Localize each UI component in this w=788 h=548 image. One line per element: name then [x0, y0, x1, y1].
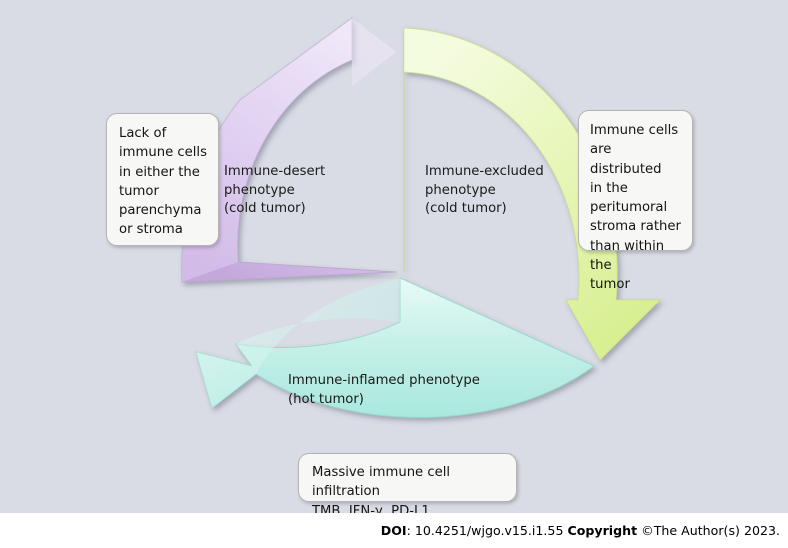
segment-label-immune-excluded: Immune-excluded phenotype (cold tumor): [425, 163, 544, 219]
copyright-value: ©The Author(s) 2023.: [637, 523, 780, 538]
figure-footer: DOI: 10.4251/wjgo.v15.i1.55 Copyright ©T…: [0, 513, 788, 548]
callout-immune-desert: Lack of immune cells in either the tumor…: [106, 113, 219, 246]
segment-label-immune-desert: Immune-desert phenotype (cold tumor): [224, 163, 325, 219]
doi-value: : 10.4251/wjgo.v15.i1.55: [407, 523, 568, 538]
callout-immune-excluded: Immune cells are distributed in the peri…: [578, 110, 693, 251]
segment-label-immune-inflamed: Immune-inflamed phenotype (hot tumor): [288, 372, 480, 409]
copyright-label: Copyright: [567, 523, 637, 538]
callout-immune-inflamed: Massive immune cell infiltration TMB, IF…: [298, 453, 517, 502]
doi-label: DOI: [381, 523, 407, 538]
diagram-canvas: Immune-desert phenotype (cold tumor) Imm…: [0, 0, 788, 513]
cycle-diagram-svg: [0, 0, 788, 513]
figure-page: Immune-desert phenotype (cold tumor) Imm…: [0, 0, 788, 548]
